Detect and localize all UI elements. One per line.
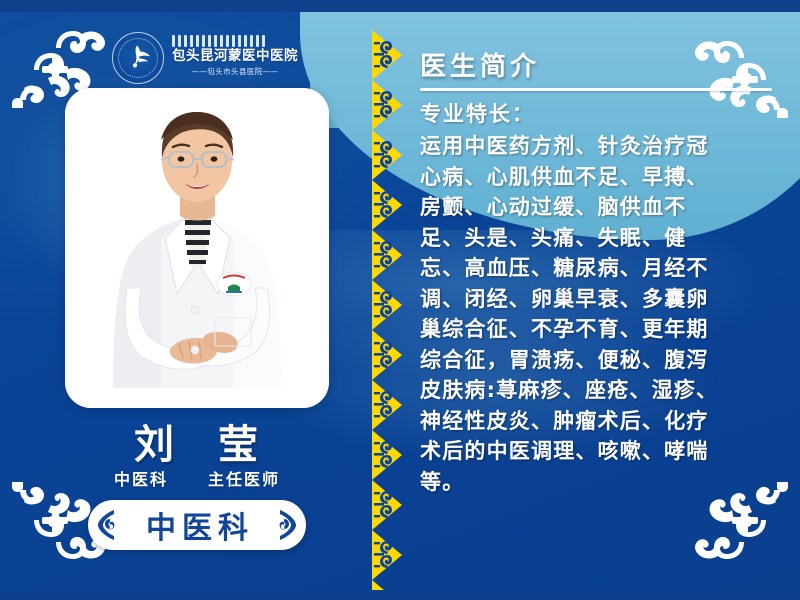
- mongolian-script-line: [172, 34, 298, 47]
- body-text-line: 忘、高血压、糖尿病、月经不: [420, 253, 776, 284]
- mongolian-triangle-pattern-icon: [368, 30, 408, 590]
- background-bottom-strip: [0, 592, 800, 600]
- body-text-line: 运用中医药方剂、针灸治疗冠: [420, 131, 776, 162]
- specialty-body: 运用中医药方剂、针灸治疗冠 心病、心肌供血不足、早搏、 房颤、心动过缓、脑供血不…: [420, 131, 776, 497]
- department-badge-label: 中医科: [140, 503, 254, 547]
- body-text-line: 心病、心肌供血不足、早搏、: [420, 162, 776, 193]
- body-text-line: 巢综合征、不孕不育、更年期: [420, 314, 776, 345]
- panel-divider-rule: [420, 88, 772, 91]
- body-text-line: 调、闭经、卵巢早衰、多囊卵: [420, 284, 776, 315]
- doctor-profile-poster: 包头昆河蒙医中医院 ——包头市头县医院——: [0, 0, 800, 600]
- doctor-credentials: 中医科 主任医师: [66, 466, 328, 490]
- body-text-line: 综合征，胃溃疡、便秘、腹泻: [420, 345, 776, 376]
- body-text-line: 房颤、心动过缓、脑供血不: [420, 192, 776, 223]
- doctor-name: 刘 莹: [66, 412, 328, 470]
- body-text-line: 皮肤病:荨麻疹、座疮、湿疹、: [420, 375, 776, 406]
- body-text-line: 神经性皮炎、肿瘤术后、化疗: [420, 406, 776, 437]
- hospital-header: 包头昆河蒙医中医院 ——包头市头县医院——: [112, 32, 362, 94]
- hospital-subtitle: ——包头市头县医院——: [172, 66, 298, 77]
- panel-title: 医生简介: [420, 50, 776, 84]
- doctor-title: 主任医师: [208, 466, 280, 490]
- hospital-emblem-icon: [112, 32, 164, 84]
- doctor-department: 中医科: [114, 466, 168, 490]
- body-text-line: 术后的中医调理、咳嗽、哮喘: [420, 436, 776, 467]
- doctor-photo-card: [65, 88, 329, 408]
- body-text-line: 足、头是、头痛、失眠、健: [420, 223, 776, 254]
- scroll-ornament-icon: [274, 508, 300, 542]
- department-badge: 中医科: [88, 500, 306, 550]
- background-top-strip: [0, 0, 800, 12]
- hospital-name: 包头昆河蒙医中医院: [172, 49, 298, 64]
- scroll-ornament-icon: [94, 508, 120, 542]
- body-text-line: 等。: [420, 467, 776, 498]
- doctor-intro-panel: 医生简介 专业特长： 运用中医药方剂、针灸治疗冠 心病、心肌供血不足、早搏、 房…: [420, 50, 776, 497]
- specialty-label: 专业特长：: [420, 99, 776, 129]
- doctor-portrait: [65, 88, 329, 408]
